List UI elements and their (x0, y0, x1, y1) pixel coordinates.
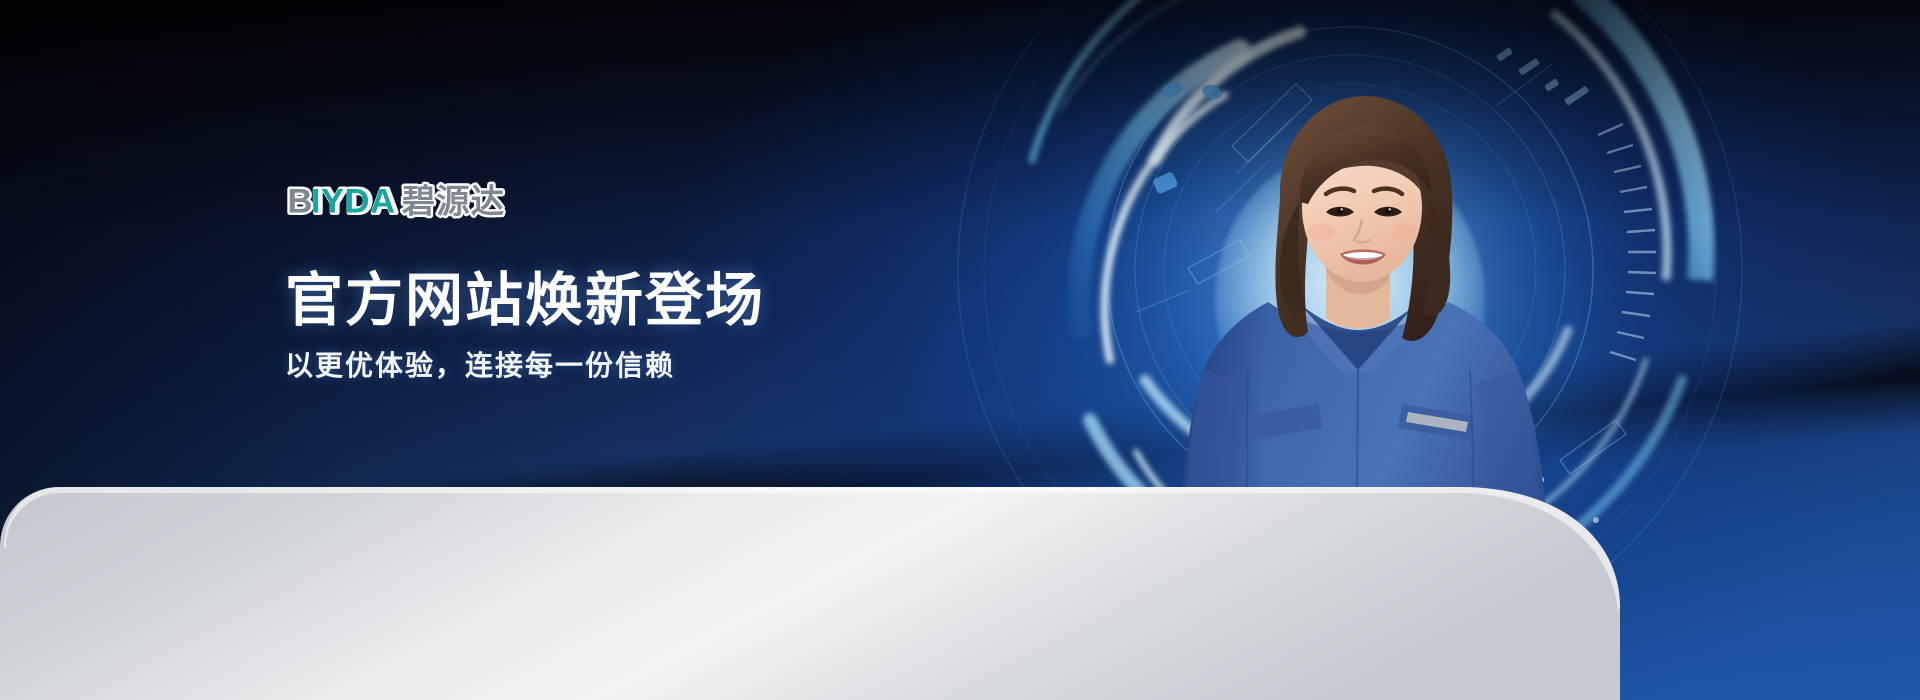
svg-text:碧源达: 碧源达 (402, 183, 505, 220)
rounded-panel-shape (0, 487, 1920, 700)
svg-text:IYDA: IYDA (311, 182, 396, 220)
page-subtitle: 以更优体验，连接每一份信赖 (285, 352, 905, 380)
page-title: 官方网站焕新登场 (285, 272, 905, 330)
hero-copy: .lt { font-family:"Liberation Sans","Dej… (285, 178, 905, 380)
svg-text:B: B (287, 182, 313, 220)
hero-banner: .lt { font-family:"Liberation Sans","Dej… (0, 0, 1920, 700)
brand-logo[interactable]: .lt { font-family:"Liberation Sans","Dej… (285, 178, 905, 226)
